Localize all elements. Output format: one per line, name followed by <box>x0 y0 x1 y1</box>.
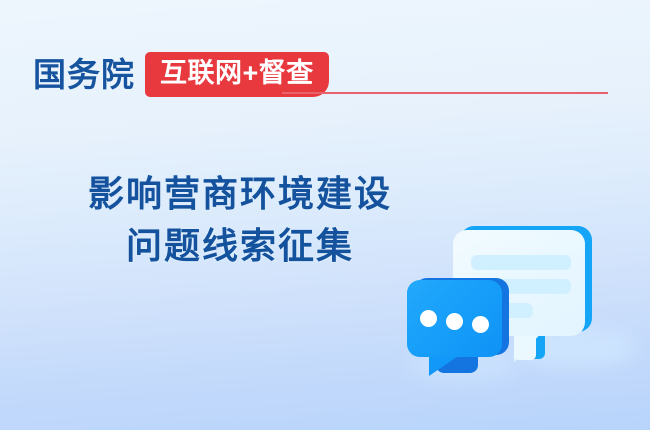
header-divider-rule <box>282 92 608 94</box>
agency-name: 国务院 <box>33 58 135 91</box>
chat-bubbles-illustration <box>398 196 648 401</box>
program-badge-label: 互联网+督查 <box>160 60 314 87</box>
ellipsis-dot-3 <box>472 316 489 333</box>
government-campaign-banner: 国务院 互联网+督查 影响营商环境建设 问题线索征集 <box>0 0 650 430</box>
bubble-text-bar-1 <box>471 255 571 270</box>
ellipsis-dot-2 <box>446 313 463 330</box>
program-badge: 互联网+督查 <box>145 52 329 97</box>
header-lockup: 国务院 互联网+督查 <box>33 51 329 97</box>
ellipsis-dot-1 <box>420 310 437 327</box>
